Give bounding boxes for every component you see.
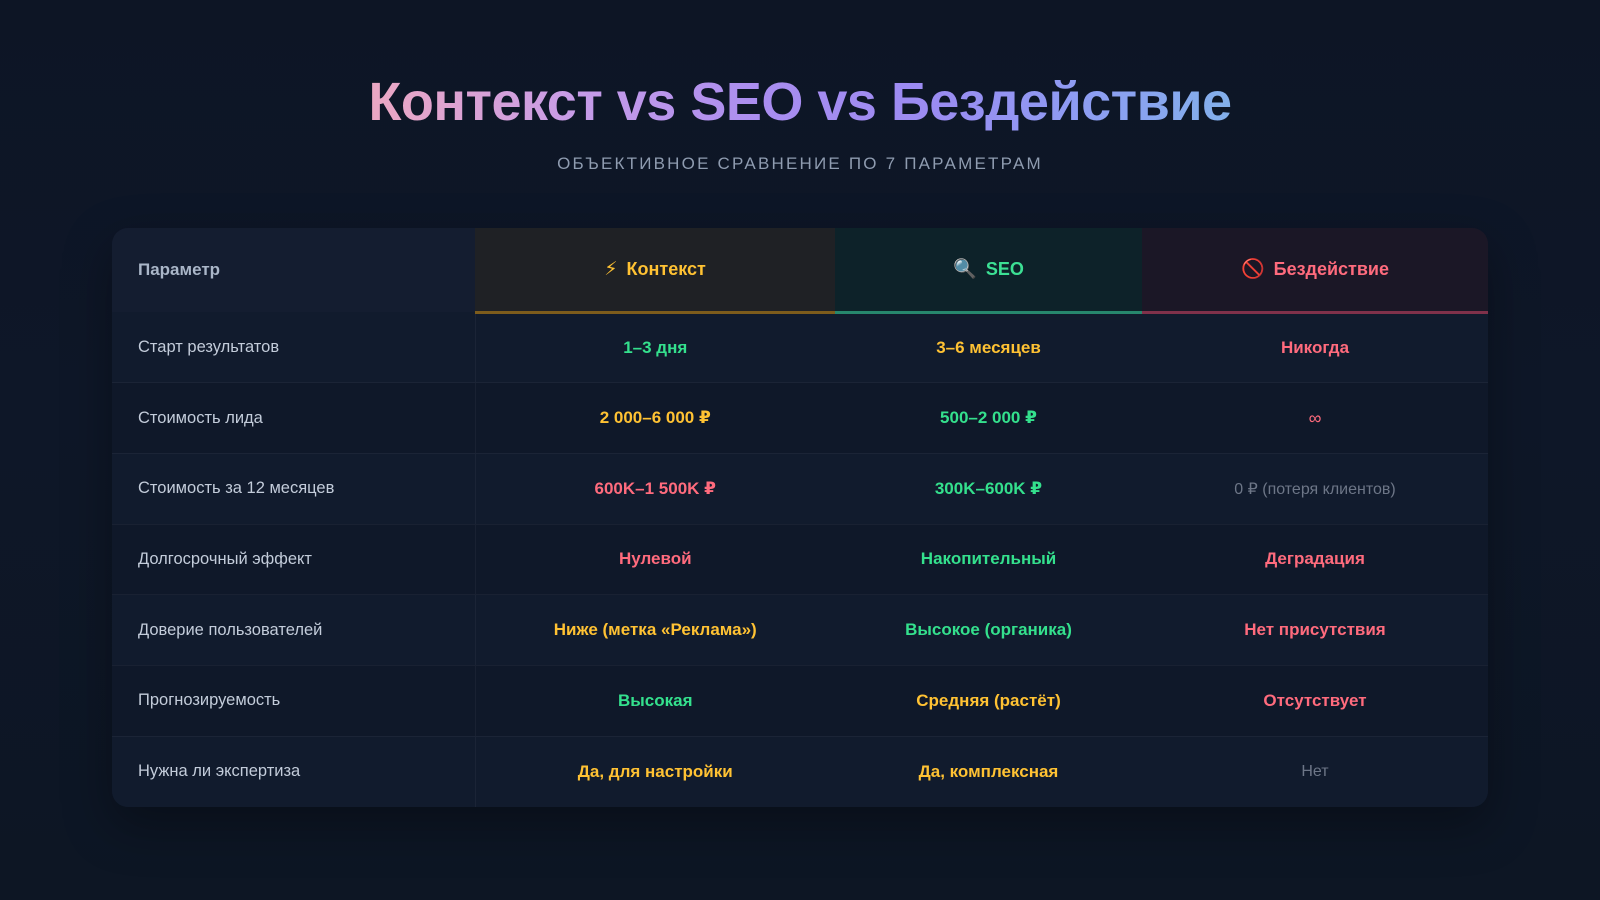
page-root: Контекст vs SEO vs Бездействие Объективн… <box>0 0 1600 900</box>
table-row: Доверие пользователей Ниже (метка «Рекла… <box>112 595 1488 666</box>
cell-context: 1–3 дня <box>475 312 835 383</box>
column-header-context-label: Контекст <box>627 259 706 280</box>
cell-seo: 3–6 месяцев <box>835 312 1142 383</box>
comparison-table: Параметр ⚡ Контекст 🔍 SEO <box>112 228 1488 807</box>
cell-seo: 300K–600K ₽ <box>835 453 1142 524</box>
table-row: Долгосрочный эффект Нулевой Накопительны… <box>112 524 1488 595</box>
cell-context: Да, для настройки <box>475 736 835 807</box>
cell-context: 2 000–6 000 ₽ <box>475 383 835 454</box>
cell-inaction: Нет <box>1142 736 1488 807</box>
column-header-inaction-label: Бездействие <box>1274 259 1389 280</box>
comparison-table-card: Параметр ⚡ Контекст 🔍 SEO <box>112 228 1488 807</box>
cell-seo: Накопительный <box>835 524 1142 595</box>
row-param-label: Нужна ли экспертиза <box>112 736 475 807</box>
cell-context: 600K–1 500K ₽ <box>475 453 835 524</box>
lightning-bolt-icon: ⚡ <box>604 260 617 279</box>
page-title: Контекст vs SEO vs Бездействие <box>0 72 1600 132</box>
cell-context: Ниже (метка «Реклама») <box>475 595 835 666</box>
table-row: Стоимость за 12 месяцев 600K–1 500K ₽ 30… <box>112 453 1488 524</box>
cell-seo: Да, комплексная <box>835 736 1142 807</box>
table-header: Параметр ⚡ Контекст 🔍 SEO <box>112 228 1488 312</box>
cell-inaction: Деградация <box>1142 524 1488 595</box>
table-body: Старт результатов 1–3 дня 3–6 месяцев Ни… <box>112 312 1488 807</box>
cell-context: Высокая <box>475 665 835 736</box>
row-param-label: Прогнозируемость <box>112 665 475 736</box>
column-header-inaction: 🚫 Бездействие <box>1142 228 1488 312</box>
page-header: Контекст vs SEO vs Бездействие Объективн… <box>0 0 1600 174</box>
cell-seo: Средняя (растёт) <box>835 665 1142 736</box>
column-header-context: ⚡ Контекст <box>475 228 835 312</box>
table-row: Нужна ли экспертиза Да, для настройки Да… <box>112 736 1488 807</box>
row-param-label: Стоимость за 12 месяцев <box>112 453 475 524</box>
row-param-label: Долгосрочный эффект <box>112 524 475 595</box>
cell-inaction: Нет присутствия <box>1142 595 1488 666</box>
cell-inaction: ∞ <box>1142 383 1488 454</box>
cell-seo: Высокое (органика) <box>835 595 1142 666</box>
table-header-row: Параметр ⚡ Контекст 🔍 SEO <box>112 228 1488 312</box>
cell-seo: 500–2 000 ₽ <box>835 383 1142 454</box>
column-header-param-label: Параметр <box>138 260 220 279</box>
cell-context: Нулевой <box>475 524 835 595</box>
row-param-label: Старт результатов <box>112 312 475 383</box>
column-header-seo: 🔍 SEO <box>835 228 1142 312</box>
magnifier-icon: 🔍 <box>953 260 977 279</box>
cell-inaction: Никогда <box>1142 312 1488 383</box>
page-subtitle: Объективное сравнение по 7 параметрам <box>0 154 1600 174</box>
table-row: Старт результатов 1–3 дня 3–6 месяцев Ни… <box>112 312 1488 383</box>
cell-inaction: Отсутствует <box>1142 665 1488 736</box>
column-header-seo-label: SEO <box>986 259 1024 280</box>
row-param-label: Доверие пользователей <box>112 595 475 666</box>
column-header-param: Параметр <box>112 228 475 312</box>
table-row: Стоимость лида 2 000–6 000 ₽ 500–2 000 ₽… <box>112 383 1488 454</box>
row-param-label: Стоимость лида <box>112 383 475 454</box>
cell-inaction: 0 ₽ (потеря клиентов) <box>1142 453 1488 524</box>
prohibited-icon: 🚫 <box>1241 260 1265 279</box>
table-row: Прогнозируемость Высокая Средняя (растёт… <box>112 665 1488 736</box>
